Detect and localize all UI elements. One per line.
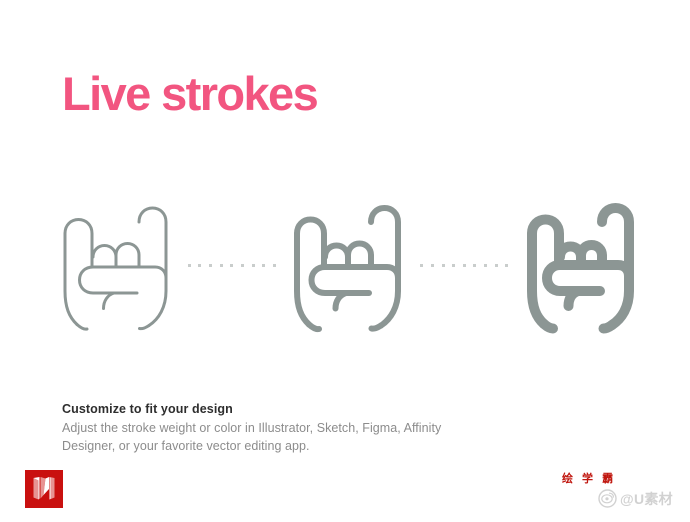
- caption-body: Adjust the stroke weight or color in Ill…: [62, 419, 492, 455]
- rock-on-hand-medium-icon: [287, 195, 409, 335]
- dot: [273, 264, 276, 267]
- dot: [420, 264, 423, 267]
- dot: [241, 264, 244, 267]
- dot: [495, 264, 498, 267]
- rock-on-hand-thin: [48, 190, 183, 340]
- dot: [473, 264, 476, 267]
- dot: [463, 264, 466, 267]
- rock-on-hand-thick: [513, 190, 648, 340]
- page-title: Live strokes: [62, 70, 317, 117]
- dot: [209, 264, 212, 267]
- brand-logo: [25, 470, 63, 508]
- caption-heading: Customize to fit your design: [62, 401, 492, 418]
- dot: [431, 264, 434, 267]
- dot: [452, 264, 455, 267]
- dot: [188, 264, 191, 267]
- weibo-eye-icon: [598, 489, 617, 508]
- dot: [262, 264, 265, 267]
- caption-block: Customize to fit your design Adjust the …: [62, 401, 492, 455]
- dot: [442, 264, 445, 267]
- weibo-watermark: @U素材: [598, 489, 673, 508]
- dot: [198, 264, 201, 267]
- rock-on-hand-thick-icon: [520, 195, 642, 335]
- dotted-separator-1: [188, 262, 276, 268]
- weibo-watermark-text: @U素材: [620, 492, 673, 506]
- dot: [484, 264, 487, 267]
- rock-on-hand-thin-icon: [55, 195, 177, 335]
- dot: [230, 264, 233, 267]
- icon-showcase-row: [48, 190, 648, 340]
- dot: [220, 264, 223, 267]
- dotted-separator-2: [420, 262, 508, 268]
- rock-on-hand-medium: [281, 190, 416, 340]
- dot: [252, 264, 255, 267]
- w-monogram-icon: [32, 476, 56, 502]
- dot: [505, 264, 508, 267]
- slide-canvas: Live strokes: [0, 0, 690, 522]
- chinese-watermark: 绘 学 霸: [562, 474, 616, 485]
